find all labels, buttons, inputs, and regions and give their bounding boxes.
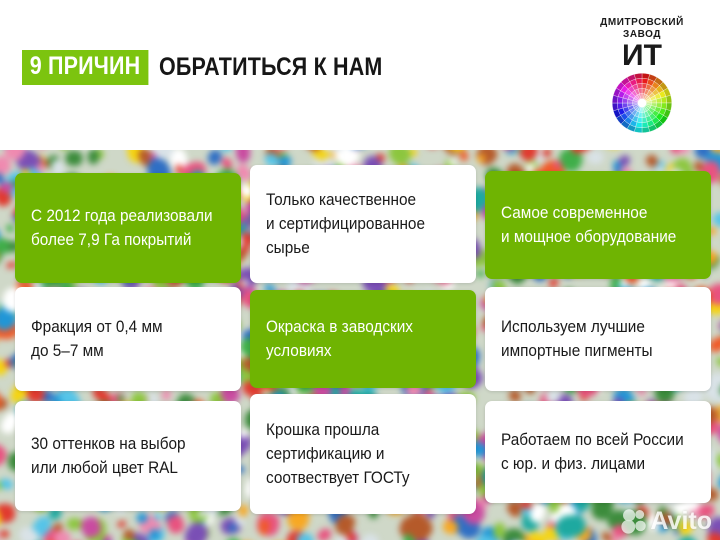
page-title: 9 ПРИЧИН ОБРАТИТЬСЯ К НАМ bbox=[22, 50, 419, 85]
reason-card-6-line-1: Используем лучшие bbox=[501, 315, 681, 339]
reason-card-1[interactable]: С 2012 года реализовали более 7,9 Га пок… bbox=[15, 173, 241, 283]
avito-logo-icon bbox=[621, 508, 647, 534]
reason-card-1-line-2: более 7,9 Га покрытий bbox=[31, 228, 211, 252]
reason-card-5-line-1: Окраска в заводских bbox=[266, 315, 446, 339]
reason-card-4-line-1: Фракция от 0,4 мм bbox=[31, 315, 211, 339]
reason-card-7-line-1: 30 оттенков на выбор bbox=[31, 432, 211, 456]
reason-card-4-line-2: до 5–7 мм bbox=[31, 339, 211, 363]
avito-watermark: Avito bbox=[621, 508, 712, 534]
reason-card-6-line-2: импортные пигменты bbox=[501, 339, 681, 363]
reason-card-4[interactable]: Фракция от 0,4 мм до 5–7 мм bbox=[15, 287, 241, 391]
title-badge: 9 ПРИЧИН bbox=[22, 50, 148, 85]
reason-card-7-line-2: или любой цвет RAL bbox=[31, 456, 211, 480]
reason-card-2-line-2: и сертифицированное bbox=[266, 212, 446, 236]
reason-card-3[interactable]: Самое современное и мощное оборудование bbox=[485, 171, 711, 279]
reason-card-2-line-3: сырье bbox=[266, 236, 446, 260]
reason-card-2[interactable]: Только качественное и сертифицированное … bbox=[250, 165, 476, 283]
reason-card-7[interactable]: 30 оттенков на выбор или любой цвет RAL bbox=[15, 401, 241, 511]
color-wheel-icon bbox=[611, 72, 673, 134]
reason-card-5-line-2: условиях bbox=[266, 339, 446, 363]
logo-line-1: ДМИТРОВСКИЙ bbox=[585, 16, 699, 28]
reason-card-8-line-2: сертификацию и bbox=[266, 442, 446, 466]
reason-card-8[interactable]: Крошка прошла сертификацию и соотвествуе… bbox=[250, 394, 476, 514]
reason-card-3-line-1: Самое современное bbox=[501, 201, 681, 225]
reason-card-9-line-1: Работаем по всей России bbox=[501, 428, 681, 452]
company-logo: ДМИТРОВСКИЙ ЗАВОД ИТ bbox=[582, 16, 702, 134]
reason-card-5[interactable]: Окраска в заводских условиях bbox=[250, 290, 476, 388]
avito-watermark-text: Avito bbox=[650, 509, 712, 534]
logo-monogram: ИТ bbox=[582, 41, 702, 71]
logo-line-2: ЗАВОД bbox=[585, 28, 699, 40]
reason-card-2-line-1: Только качественное bbox=[266, 188, 446, 212]
reason-card-1-line-1: С 2012 года реализовали bbox=[31, 204, 211, 228]
reason-card-8-line-1: Крошка прошла bbox=[266, 418, 446, 442]
slide-root: 9 ПРИЧИН ОБРАТИТЬСЯ К НАМ ДМИТРОВСКИЙ ЗА… bbox=[0, 0, 720, 540]
reason-card-9-line-2: с юр. и физ. лицами bbox=[501, 452, 681, 476]
reason-card-3-line-2: и мощное оборудование bbox=[501, 225, 681, 249]
title-main: ОБРАТИТЬСЯ К НАМ bbox=[159, 55, 382, 80]
reason-card-6[interactable]: Используем лучшие импортные пигменты bbox=[485, 287, 711, 391]
reason-card-8-line-3: соотвествует ГОСТу bbox=[266, 466, 446, 490]
reasons-grid: С 2012 года реализовали более 7,9 Га пок… bbox=[0, 150, 720, 540]
reason-card-9[interactable]: Работаем по всей России с юр. и физ. лиц… bbox=[485, 401, 711, 503]
